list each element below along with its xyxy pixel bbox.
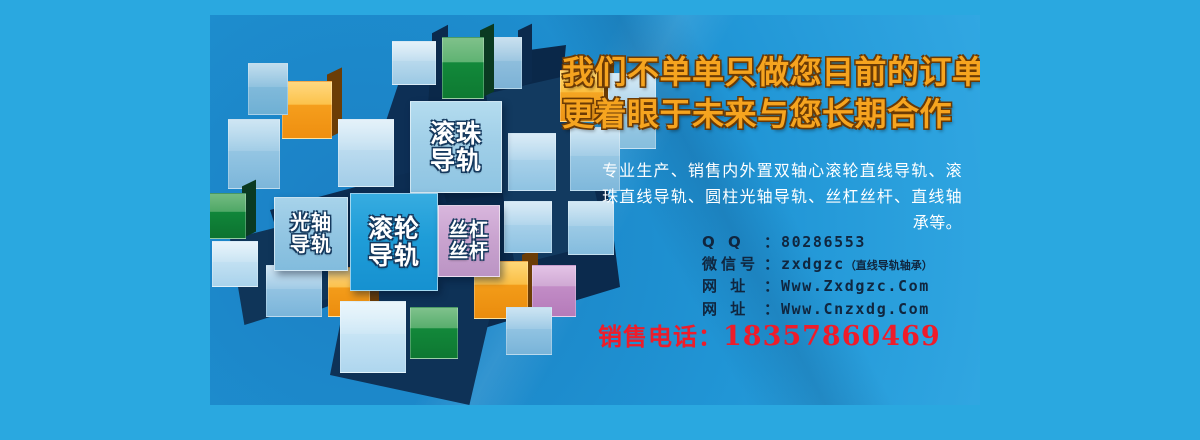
contact-key: 网 址 — [702, 275, 764, 297]
product-label-line1: 丝杠 — [449, 220, 489, 241]
product-label-gunzhu-daogui[interactable]: 滚珠 导轨 — [410, 101, 502, 193]
contact-value-wechat: zxdgzc — [781, 253, 845, 275]
cube — [266, 265, 322, 317]
product-label-line2: 导轨 — [430, 147, 482, 174]
promo-banner: 滚珠 导轨 光轴 导轨 滚轮 导轨 丝杠 丝杆 我们不单单只做您目前的订单 更着… — [210, 15, 980, 405]
contact-colon: ： — [764, 231, 779, 253]
headline-block: 我们不单单只做您目前的订单 更着眼于未来与您长期合作 — [562, 51, 980, 135]
banner-page: 滚珠 导轨 光轴 导轨 滚轮 导轨 丝杠 丝杆 我们不单单只做您目前的订单 更着… — [0, 0, 1200, 440]
product-label-line1: 滚珠 — [430, 120, 482, 147]
cube — [248, 63, 288, 115]
contact-note-wechat: （直线导轨轴承） — [845, 258, 933, 274]
contact-key: 微信号 — [702, 253, 764, 275]
sales-phone-number: 18357860469 — [723, 321, 941, 352]
cube — [392, 41, 436, 85]
product-label-gunlun-daogui[interactable]: 滚轮 导轨 — [350, 193, 438, 291]
contact-row-qq[interactable]: Q Q ： 80286553 — [702, 231, 933, 253]
contact-value-qq: 80286553 — [781, 231, 866, 253]
product-label-line2: 丝杆 — [449, 241, 489, 262]
sales-phone-block[interactable]: 销售电话：18357860469 — [598, 317, 941, 352]
product-label-line1: 光轴 — [290, 212, 332, 234]
contact-info-block: Q Q ： 80286553 微信号 ： zxdgzc （直线导轨轴承） 网 址… — [702, 231, 933, 320]
product-label-line2: 导轨 — [290, 234, 332, 256]
cube-green — [442, 37, 484, 99]
cube — [338, 119, 394, 187]
product-label-line1: 滚轮 — [368, 215, 420, 242]
product-label-sigang-sigan[interactable]: 丝杠 丝杆 — [438, 205, 500, 277]
sales-phone-label: 销售电话： — [598, 323, 723, 351]
cube-green — [410, 307, 458, 359]
cube — [508, 133, 556, 191]
cube — [506, 307, 552, 355]
banner-text-column: 我们不单单只做您目前的订单 更着眼于未来与您长期合作 专业生产、销售内外置双轴心… — [550, 15, 980, 405]
contact-value-website-1: Www.Zxdgzc.Com — [781, 275, 930, 297]
cube-green — [210, 193, 246, 239]
contact-row-website-1[interactable]: 网 址 ： Www.Zxdgzc.Com — [702, 275, 933, 297]
product-label-guangzhou-daogui[interactable]: 光轴 导轨 — [274, 197, 348, 271]
contact-row-wechat[interactable]: 微信号 ： zxdgzc （直线导轨轴承） — [702, 253, 933, 275]
cube — [340, 301, 406, 373]
cube — [212, 241, 258, 287]
headline-line-2: 更着眼于未来与您长期合作 — [562, 93, 980, 135]
headline-line-1: 我们不单单只做您目前的订单 — [562, 51, 980, 93]
company-description: 专业生产、销售内外置双轴心滚轮直线导轨、滚珠直线导轨、圆柱光轴导轨、丝杠丝杆、直… — [602, 158, 962, 236]
contact-colon: ： — [764, 253, 779, 275]
contact-key: Q Q — [702, 231, 764, 253]
cube — [504, 201, 552, 253]
contact-colon: ： — [764, 275, 779, 297]
product-label-line2: 导轨 — [368, 242, 420, 269]
cube-orange — [282, 81, 332, 139]
cube — [228, 119, 280, 189]
